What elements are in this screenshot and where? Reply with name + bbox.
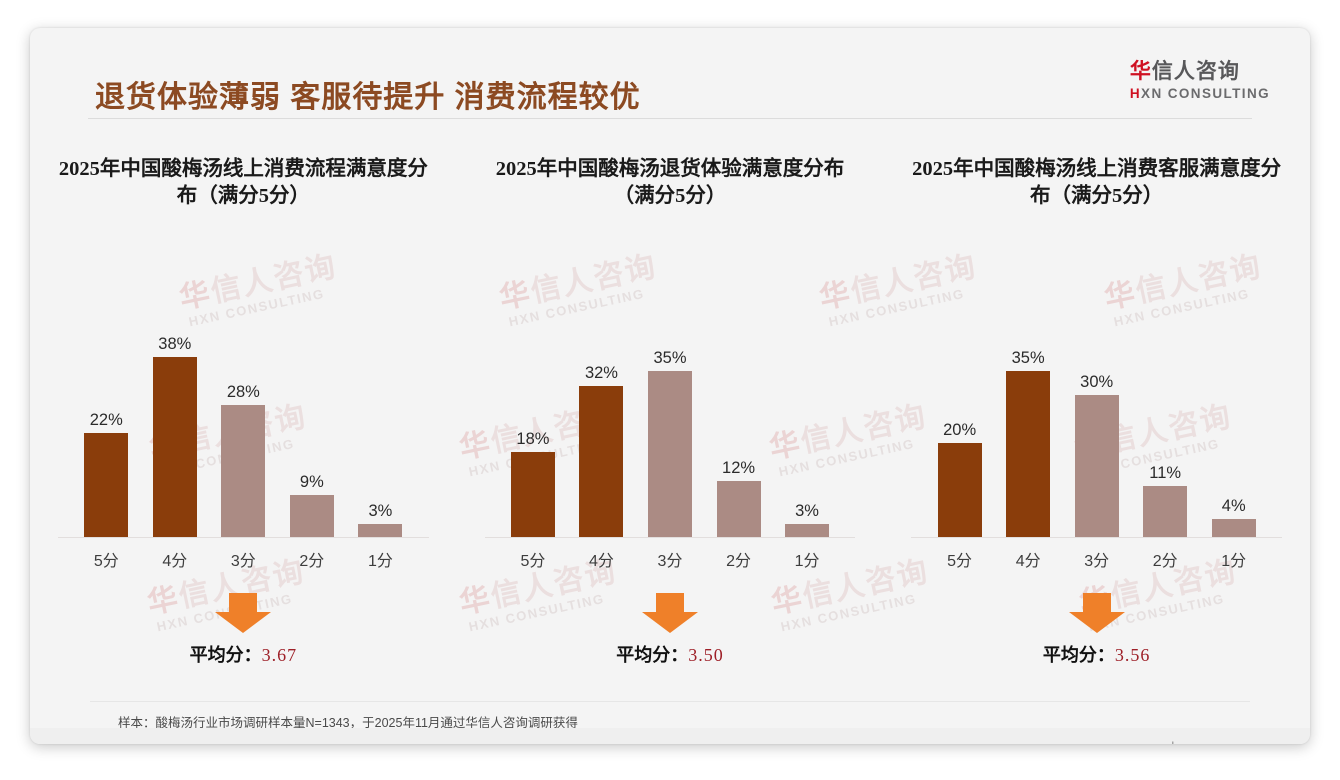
x-axis-tick-label: 2分 bbox=[704, 547, 773, 571]
logo-cn-rest: 信人咨询 bbox=[1152, 60, 1240, 83]
x-axis-tick-label: 4分 bbox=[994, 547, 1063, 571]
x-axis-line bbox=[485, 537, 856, 538]
slide-header: 退货体验薄弱 客服待提升 消费流程较优 华信人咨询 HXN CONSULTING bbox=[30, 28, 1310, 132]
x-axis-tick-label: 3分 bbox=[209, 547, 278, 571]
plot-area: 18%32%35%12%3% bbox=[471, 276, 870, 538]
logo-chinese-text: 华信人咨询 bbox=[1130, 60, 1270, 83]
bar[interactable] bbox=[153, 357, 197, 538]
plot-area: 22%38%28%9%3% bbox=[44, 276, 443, 538]
x-axis-tick-label: 1分 bbox=[773, 547, 842, 571]
average-score-label: 平均分： bbox=[190, 645, 262, 665]
chart-title: 2025年中国酸梅汤退货体验满意度分布（满分5分） bbox=[471, 156, 870, 214]
x-axis-tick-label: 1分 bbox=[1199, 547, 1268, 571]
bar-value-label: 4% bbox=[1222, 498, 1246, 515]
bar[interactable] bbox=[1212, 519, 1256, 538]
x-axis-tick-label: 5分 bbox=[925, 547, 994, 571]
bar-value-label: 35% bbox=[1012, 350, 1045, 367]
average-block: 平均分：3.67 bbox=[44, 593, 443, 667]
average-score-label: 平均分： bbox=[1043, 645, 1115, 665]
bar-value-label: 9% bbox=[300, 474, 324, 491]
average-score-text: 平均分：3.56 bbox=[897, 641, 1296, 667]
bar-value-label: 3% bbox=[368, 503, 392, 520]
bar-value-label: 20% bbox=[943, 422, 976, 439]
bar-group[interactable]: 35% bbox=[636, 308, 705, 538]
bar[interactable] bbox=[358, 524, 402, 538]
copyright-text: ©2026.1 HXR华信人咨询 bbox=[102, 740, 242, 744]
bar-group[interactable]: 9% bbox=[278, 308, 347, 538]
x-axis-tick-label: 4分 bbox=[567, 547, 636, 571]
average-score-label: 平均分： bbox=[616, 645, 688, 665]
x-axis-line bbox=[58, 537, 429, 538]
company-logo: 华信人咨询 HXN CONSULTING bbox=[1130, 60, 1270, 101]
x-axis-tick-label: 1分 bbox=[346, 547, 415, 571]
logo-hua-char: 华 bbox=[1130, 60, 1152, 83]
bar-group[interactable]: 11% bbox=[1131, 308, 1200, 538]
logo-en-h: H bbox=[1130, 86, 1141, 101]
bars-container: 18%32%35%12%3% bbox=[499, 308, 842, 538]
logo-en-rest: XN CONSULTING bbox=[1141, 86, 1270, 101]
bar-value-label: 12% bbox=[722, 460, 755, 477]
bar-value-label: 18% bbox=[516, 431, 549, 448]
average-score-text: 平均分：3.50 bbox=[471, 641, 870, 667]
bar-group[interactable]: 22% bbox=[72, 308, 141, 538]
average-block: 平均分：3.56 bbox=[897, 593, 1296, 667]
x-axis-tick-label: 5分 bbox=[499, 547, 568, 571]
slide-footer: ©2026.1 HXR华信人咨询 www.hxrcon.com bbox=[30, 728, 1310, 744]
charts-row: 2025年中国酸梅汤线上消费流程满意度分布（满分5分）22%38%28%9%3%… bbox=[30, 156, 1310, 667]
bar[interactable] bbox=[84, 433, 128, 538]
bar-group[interactable]: 35% bbox=[994, 308, 1063, 538]
x-axis-line bbox=[911, 537, 1282, 538]
bar-value-label: 35% bbox=[653, 350, 686, 367]
bar-value-label: 30% bbox=[1080, 374, 1113, 391]
down-arrow-icon bbox=[1069, 593, 1125, 633]
bars-container: 22%38%28%9%3% bbox=[72, 308, 415, 538]
bar-value-label: 32% bbox=[585, 365, 618, 382]
chart-panel-3: 2025年中国酸梅汤线上消费客服满意度分布（满分5分）20%35%30%11%4… bbox=[883, 156, 1310, 667]
bar-group[interactable]: 3% bbox=[773, 308, 842, 538]
bar[interactable] bbox=[648, 371, 692, 538]
chart-panel-2: 2025年中国酸梅汤退货体验满意度分布（满分5分）18%32%35%12%3%5… bbox=[457, 156, 884, 667]
bar[interactable] bbox=[579, 386, 623, 538]
bar-value-label: 11% bbox=[1149, 465, 1181, 482]
bar-value-label: 38% bbox=[158, 336, 191, 353]
bar-group[interactable]: 4% bbox=[1199, 308, 1268, 538]
title-divider bbox=[88, 118, 1252, 119]
x-axis-tick-label: 2分 bbox=[278, 547, 347, 571]
average-score-value: 3.67 bbox=[262, 645, 298, 665]
average-score-value: 3.50 bbox=[688, 645, 724, 665]
bar[interactable] bbox=[1006, 371, 1050, 538]
bar-group[interactable]: 12% bbox=[704, 308, 773, 538]
slide-canvas: 华信人咨询HXN CONSULTING华信人咨询HXN CONSULTING华信… bbox=[30, 28, 1310, 744]
chart-panel-1: 2025年中国酸梅汤线上消费流程满意度分布（满分5分）22%38%28%9%3%… bbox=[30, 156, 457, 667]
plot-area: 20%35%30%11%4% bbox=[897, 276, 1296, 538]
chart-title: 2025年中国酸梅汤线上消费流程满意度分布（满分5分） bbox=[44, 156, 443, 214]
bar[interactable] bbox=[938, 443, 982, 538]
bar[interactable] bbox=[290, 495, 334, 538]
bar-value-label: 28% bbox=[227, 384, 260, 401]
x-axis-labels: 5分4分3分2分1分 bbox=[44, 547, 443, 571]
bar[interactable] bbox=[511, 452, 555, 538]
average-score-text: 平均分：3.67 bbox=[44, 641, 443, 667]
average-block: 平均分：3.50 bbox=[471, 593, 870, 667]
website-link[interactable]: www.hxrcon.com bbox=[1142, 740, 1236, 744]
bar[interactable] bbox=[1075, 395, 1119, 538]
down-arrow-icon bbox=[642, 593, 698, 633]
logo-english-text: HXN CONSULTING bbox=[1130, 86, 1270, 101]
x-axis-tick-label: 4分 bbox=[141, 547, 210, 571]
x-axis-tick-label: 3分 bbox=[636, 547, 705, 571]
bar-group[interactable]: 20% bbox=[925, 308, 994, 538]
bars-container: 20%35%30%11%4% bbox=[925, 308, 1268, 538]
average-score-value: 3.56 bbox=[1115, 645, 1151, 665]
bar-value-label: 3% bbox=[795, 503, 819, 520]
down-arrow-icon bbox=[215, 593, 271, 633]
bar[interactable] bbox=[221, 405, 265, 538]
chart-title: 2025年中国酸梅汤线上消费客服满意度分布（满分5分） bbox=[897, 156, 1296, 214]
page-title: 退货体验薄弱 客服待提升 消费流程较优 bbox=[95, 72, 641, 116]
bar[interactable] bbox=[1143, 486, 1187, 538]
bar-group[interactable]: 38% bbox=[141, 308, 210, 538]
x-axis-labels: 5分4分3分2分1分 bbox=[471, 547, 870, 571]
bar-group[interactable]: 28% bbox=[209, 308, 278, 538]
bar[interactable] bbox=[717, 481, 761, 538]
x-axis-labels: 5分4分3分2分1分 bbox=[897, 547, 1296, 571]
x-axis-tick-label: 2分 bbox=[1131, 547, 1200, 571]
bar-group[interactable]: 18% bbox=[499, 308, 568, 538]
bar-group[interactable]: 3% bbox=[346, 308, 415, 538]
bar-value-label: 22% bbox=[90, 412, 123, 429]
footer-divider bbox=[90, 701, 1250, 702]
bar-group[interactable]: 30% bbox=[1062, 308, 1131, 538]
bar[interactable] bbox=[785, 524, 829, 538]
bar-group[interactable]: 32% bbox=[567, 308, 636, 538]
x-axis-tick-label: 3分 bbox=[1062, 547, 1131, 571]
x-axis-tick-label: 5分 bbox=[72, 547, 141, 571]
